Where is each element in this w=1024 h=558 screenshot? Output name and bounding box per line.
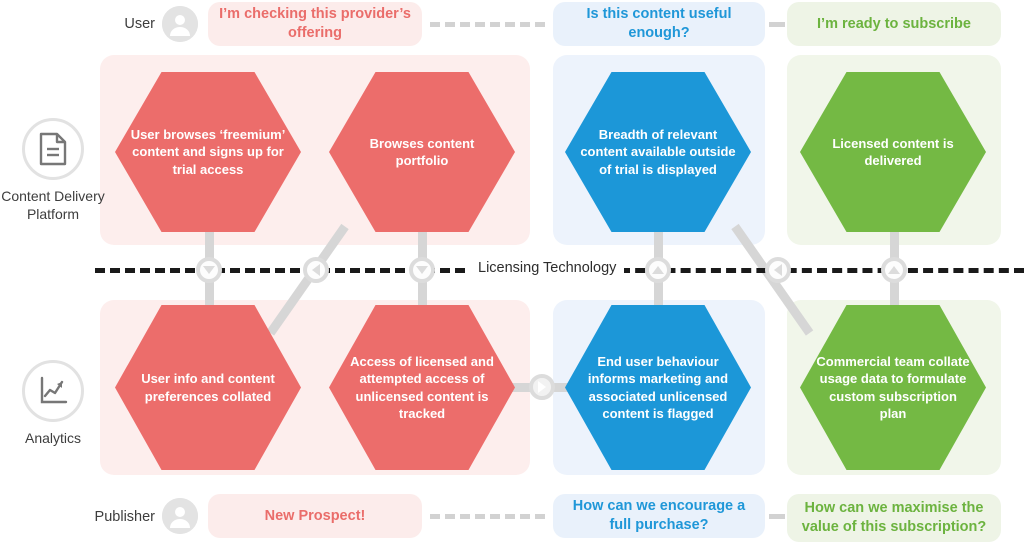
document-icon xyxy=(38,132,68,166)
publisher-dashed-connector-1 xyxy=(430,514,545,519)
user-statement-1-label: I’m checking this provider’s offering xyxy=(218,5,412,42)
triangle-down-icon xyxy=(203,266,215,274)
arrow-node-right-1[interactable] xyxy=(529,374,555,400)
actor-label-user: User xyxy=(105,16,155,32)
triangle-down-icon xyxy=(416,266,428,274)
publisher-dashed-connector-2 xyxy=(769,514,785,519)
hex-bottom-2-label: Access of licensed and attempted access … xyxy=(343,353,501,422)
rail-content-delivery-platform: Content Delivery Platform xyxy=(1,118,105,223)
publisher-statement-1[interactable]: New Prospect! xyxy=(208,494,422,538)
hex-top-3-label: Breadth of relevant content available ou… xyxy=(579,126,737,177)
avatar-publisher xyxy=(162,498,198,534)
arrow-node-up-2[interactable] xyxy=(881,257,907,283)
content-delivery-platform-label: Content Delivery Platform xyxy=(1,188,105,223)
user-statement-2-label: Is this content useful enough? xyxy=(563,5,755,42)
user-statement-2[interactable]: Is this content useful enough? xyxy=(553,2,765,46)
arrow-node-down-1[interactable] xyxy=(196,257,222,283)
rail-analytics: Analytics xyxy=(1,360,105,448)
arrow-node-down-2[interactable] xyxy=(409,257,435,283)
hex-top-4-label: Licensed content is delivered xyxy=(814,135,972,169)
analytics-label: Analytics xyxy=(1,430,105,448)
triangle-up-icon xyxy=(888,266,900,274)
content-delivery-platform-ring xyxy=(22,118,84,180)
user-dashed-connector-1 xyxy=(430,22,545,27)
user-dashed-connector-2 xyxy=(769,22,785,27)
publisher-statement-3[interactable]: How can we maximise the value of this su… xyxy=(787,494,1001,542)
publisher-statement-2-label: How can we encourage a full purchase? xyxy=(563,497,755,534)
triangle-right-icon xyxy=(538,381,546,393)
user-statement-3[interactable]: I’m ready to subscribe xyxy=(787,2,1001,46)
triangle-up-icon xyxy=(652,266,664,274)
user-avatar-icon xyxy=(162,6,198,42)
triangle-left-icon xyxy=(312,264,320,276)
actor-label-publisher: Publisher xyxy=(75,509,155,525)
hex-bottom-1-label: User info and content preferences collat… xyxy=(129,370,287,404)
hex-bottom-4-label: Commercial team collate usage data to fo… xyxy=(814,353,972,422)
publisher-statement-1-label: New Prospect! xyxy=(265,507,366,526)
publisher-statement-2[interactable]: How can we encourage a full purchase? xyxy=(553,494,765,538)
user-statement-3-label: I’m ready to subscribe xyxy=(817,15,971,34)
licensing-dashed-line-right xyxy=(620,268,1024,273)
publisher-statement-3-label: How can we maximise the value of this su… xyxy=(797,499,991,536)
journey-diagram: Licensing Technology User browses ‘freem… xyxy=(0,0,1024,558)
chart-analytics-icon xyxy=(37,375,69,407)
user-statement-1[interactable]: I’m checking this provider’s offering xyxy=(208,2,422,46)
analytics-ring xyxy=(22,360,84,422)
hex-top-2-label: Browses content portfolio xyxy=(343,135,501,169)
arrow-node-up-1[interactable] xyxy=(645,257,671,283)
licensing-technology-label: Licensing Technology xyxy=(470,260,624,276)
avatar-user xyxy=(162,6,198,42)
hex-bottom-3-label: End user behaviour informs marketing and… xyxy=(579,353,737,422)
user-avatar-icon xyxy=(162,498,198,534)
arrow-node-left-1[interactable] xyxy=(303,257,329,283)
arrow-node-left-2[interactable] xyxy=(765,257,791,283)
triangle-left-icon xyxy=(774,264,782,276)
hex-top-1-label: User browses ‘freemium’ content and sign… xyxy=(129,126,287,177)
